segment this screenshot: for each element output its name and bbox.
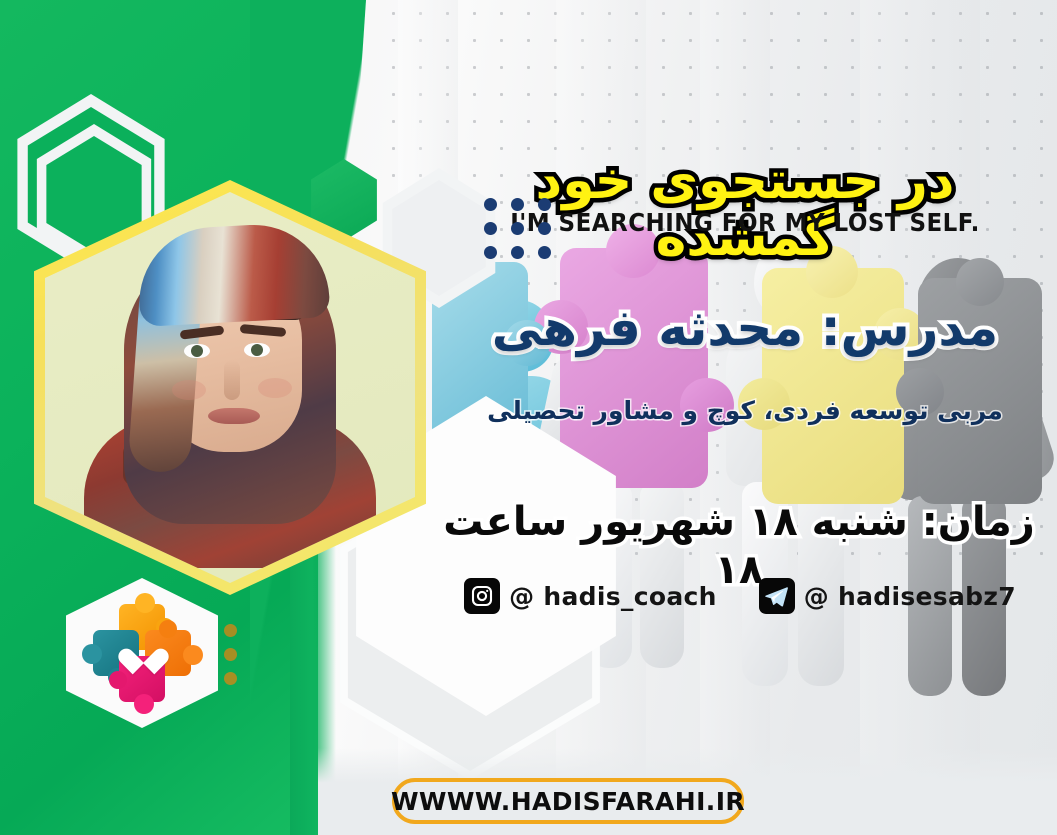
telegram-icon[interactable] — [759, 578, 795, 614]
logo-dot — [224, 672, 237, 685]
portrait-pupil-right — [251, 344, 263, 356]
grid-dot — [484, 198, 497, 211]
logo-dot — [224, 648, 237, 661]
poster-text-content: در جستجوی خود گمشده I'M SEARCHING FOR MY… — [430, 0, 1057, 835]
portrait-pupil-left — [191, 345, 203, 357]
decorative-dot-grid — [484, 198, 551, 259]
social-telegram[interactable]: @ hadisesabz7 — [759, 578, 1016, 614]
grid-dot — [511, 222, 524, 235]
instagram-handle: @ hadis_coach — [509, 582, 717, 611]
event-poster: در جستجوی خود گمشده I'M SEARCHING FOR MY… — [0, 0, 1057, 835]
instructor-role: مربی توسعه فردی، کوچ و مشاور تحصیلی — [451, 395, 1039, 428]
grid-dot — [511, 246, 524, 259]
website-badge[interactable]: WWWW.HADISFARAHI.IR — [392, 778, 744, 824]
portrait-cheek-right — [258, 378, 292, 398]
instagram-icon[interactable] — [464, 578, 500, 614]
grid-dot — [484, 246, 497, 259]
grid-dot — [538, 222, 551, 235]
grid-dot — [538, 246, 551, 259]
social-links: @ hadis_coach @ hadisesabz7 — [451, 578, 1029, 614]
instructor-photo-frame — [34, 180, 426, 595]
grid-dot — [484, 222, 497, 235]
portrait-nose — [224, 360, 240, 400]
heart-icon — [128, 638, 158, 666]
telegram-handle: @ hadisesabz7 — [804, 582, 1016, 611]
logo-dot — [224, 624, 237, 637]
grid-dot — [538, 198, 551, 211]
portrait-turban — [136, 221, 331, 327]
grid-dot — [511, 198, 524, 211]
portrait-mouth — [208, 408, 260, 424]
page-subtitle: I'M SEARCHING FOR MY LOST SELF. — [478, 208, 1012, 237]
website-url: WWWW.HADISFARAHI.IR — [391, 787, 745, 816]
portrait-cheek-left — [172, 380, 206, 400]
social-instagram[interactable]: @ hadis_coach — [464, 578, 717, 614]
logo-accent-dots — [224, 624, 237, 696]
instructor-portrait — [100, 208, 360, 568]
instructor-name: مدرس: محدثه فرهی — [451, 300, 1039, 358]
